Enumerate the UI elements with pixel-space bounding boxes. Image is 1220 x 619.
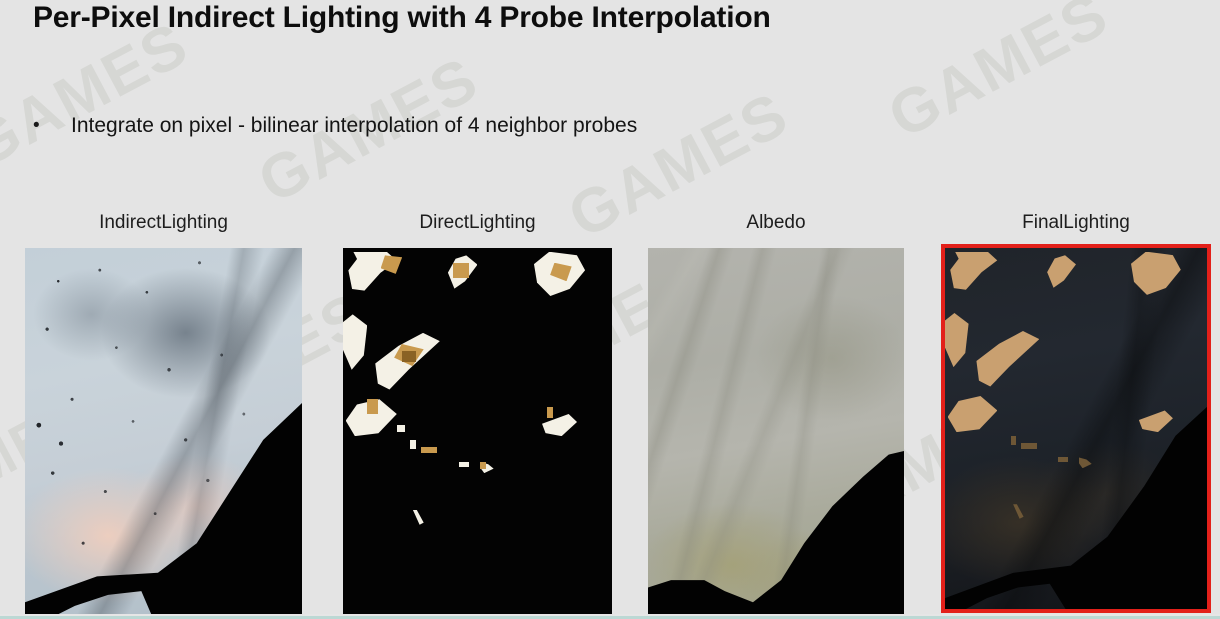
final-lit-patch [1011, 436, 1016, 445]
direct-light-patch-warm [547, 407, 552, 418]
panel-label-direct-lighting: DirectLighting [343, 212, 612, 234]
panel-direct-lighting: DirectLighting [343, 248, 612, 617]
panel-final-lighting: FinalLighting [941, 244, 1211, 613]
bullet-marker-icon: • [33, 112, 71, 140]
bullet-text: Integrate on pixel - bilinear interpolat… [71, 112, 637, 140]
direct-light-patch-warm [480, 462, 485, 469]
panel-albedo: Albedo [648, 248, 904, 617]
bullet-item: • Integrate on pixel - bilinear interpol… [33, 112, 637, 140]
panel-label-indirect-lighting: IndirectLighting [25, 212, 302, 234]
direct-light-patch [459, 462, 470, 467]
direct-light-patch [397, 425, 405, 432]
direct-light-patch-warm [367, 399, 378, 414]
direct-black-background [343, 248, 612, 617]
render-thumbnail-direct-lighting [343, 248, 612, 617]
render-thumbnail-indirect-lighting [25, 248, 302, 617]
final-lit-patch [1058, 457, 1068, 462]
direct-light-patch-warm [453, 263, 469, 278]
slide-title: Per-Pixel Indirect Lighting with 4 Probe… [33, 1, 771, 35]
direct-light-patch-warm [402, 351, 415, 362]
panel-indirect-lighting: IndirectLighting [25, 248, 302, 617]
slide-canvas: GAMES GAMES GAMES GAMES GAMES GAMES GAME… [0, 0, 1220, 619]
panel-label-final-lighting: FinalLighting [945, 212, 1207, 234]
direct-light-patch-warm [421, 447, 437, 453]
render-thumbnail-final-lighting [945, 248, 1207, 609]
render-thumbnail-albedo [648, 248, 904, 617]
final-lit-patch [1021, 443, 1037, 449]
direct-light-patch [410, 440, 415, 449]
panel-label-albedo: Albedo [648, 212, 904, 234]
watermark-text: GAMES [877, 0, 1120, 153]
